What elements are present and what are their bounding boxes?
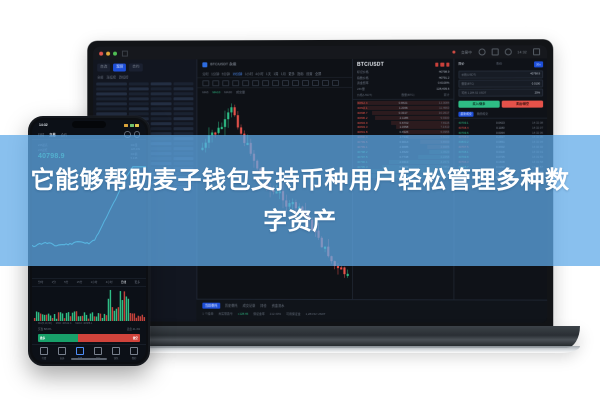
chart-tf-2[interactable]: 5分钟 <box>222 71 230 76</box>
orderbook-cell: 7.1413 <box>440 125 449 129</box>
exchange-logo-icon <box>202 62 207 67</box>
orderbook-columns: 价格(USDT) 数量(BTC) 累计 <box>353 90 453 99</box>
phone-volume-bar <box>54 314 55 321</box>
view-all-icon[interactable] <box>435 63 438 66</box>
trade-time: 14:32:06 <box>532 130 543 134</box>
trade-field-0[interactable]: 价格(USDT)40798.9 <box>458 71 543 79</box>
candle-body <box>347 274 349 276</box>
phone-volume-bar <box>76 311 77 321</box>
trade-field-value: 25% <box>535 91 540 94</box>
chart-tool-icon[interactable] <box>212 80 219 86</box>
orders-status-item-4: 212.40% <box>270 311 281 315</box>
orders-status-item-1: 未实现盈亏 <box>218 311 232 315</box>
phone-tf-4[interactable]: 1小时 <box>91 280 98 284</box>
watchlist-cell <box>129 97 149 101</box>
phone-volume-bar <box>126 296 127 321</box>
orderbook-cell: 0.8421 <box>399 101 408 105</box>
chart-tf-11[interactable]: 设置 <box>306 71 312 76</box>
phone-volume-bar <box>98 313 99 321</box>
watchlist-subtab-1[interactable]: 涨幅榜 <box>106 74 115 79</box>
orders-status-item-0: 1 个挂单 <box>202 311 213 315</box>
phone-volume-bar <box>42 314 43 321</box>
phone-volume-bar <box>136 317 137 320</box>
watchlist-row[interactable] <box>96 107 193 111</box>
orders-strip: 当前委托历史委托成交记录持仓资金流水 1 个挂单未实现盈亏+128.45保证金率… <box>196 299 547 323</box>
orderbook-cell: 6.0955 <box>440 130 449 134</box>
watchlist-cell <box>129 92 149 96</box>
chart-tf-1[interactable]: 1分钟 <box>211 71 219 76</box>
watchlist-cell <box>173 122 193 126</box>
chart-tf-12[interactable]: 全屏 <box>315 70 321 75</box>
orderbook-stat-key: 指数价格 <box>357 75 369 79</box>
trade-field-label: 可用 1,284.52 USDT <box>461 91 486 95</box>
orderbook-stat-key: 标记价格 <box>357 70 369 74</box>
phone-volume-bar <box>114 310 115 320</box>
signal-icon <box>124 124 128 127</box>
phone-volume-bar <box>138 315 139 320</box>
orderbook-cell: 7.8115 <box>441 120 450 124</box>
trade-tab-market[interactable]: 市价 <box>496 61 502 67</box>
candle-body <box>237 115 239 127</box>
overlay-banner: 它能够帮助麦子钱包支持币种用户轻松管理多种数字资产 <box>0 135 600 266</box>
watchlist-cell <box>129 107 149 111</box>
chart-tf-9[interactable]: 更多 <box>288 71 294 76</box>
trade-icon <box>76 347 84 355</box>
phone-volume-bar <box>86 314 87 320</box>
phone-volume-bar <box>80 316 81 321</box>
view-asks-icon[interactable] <box>446 63 449 66</box>
phone-tf-7[interactable]: 更多 <box>135 280 140 284</box>
watchlist-cell <box>96 107 126 111</box>
watchlist-tabs[interactable]: 自选 现货 合约 <box>93 59 196 73</box>
phone-buy-sell-ratio[interactable]: 做多 做空 <box>38 334 140 342</box>
orders-tab-0[interactable]: 当前委托 <box>202 302 220 309</box>
phone-volume-bar <box>64 318 65 321</box>
chart-legend-2: MA30 <box>224 90 232 94</box>
phone-tab-钱包[interactable]: 钱包 <box>112 347 120 360</box>
phone-volume-bar <box>68 312 69 321</box>
phone-timeframe-row[interactable]: 分时1分5分15分1小时4小时日线更多 <box>32 278 146 286</box>
trade-time: 14:32:07 <box>532 125 543 129</box>
phone-volume-bar <box>78 316 79 321</box>
orderbook-cell: 10.2617 <box>439 111 450 115</box>
orderbook-sell-row[interactable]: 40803.31.04587.1413 <box>357 125 449 129</box>
trade-order-type-tabs[interactable]: 限价 市价 20x <box>454 58 547 69</box>
phone-volume-bar <box>44 314 45 320</box>
sell-button[interactable]: 卖出/做空 <box>502 100 543 107</box>
phone-volume-bar <box>140 316 141 321</box>
chart-tool-icon[interactable] <box>262 80 269 86</box>
trade-history-row[interactable]: 40799.60.006414:32:06 <box>458 130 543 134</box>
trade-qty: 0.0064 <box>496 130 505 134</box>
orders-tab-4[interactable]: 资金流水 <box>272 303 285 308</box>
orderbook-stat-value: 40798.9 <box>439 70 450 74</box>
candle-body <box>343 267 345 274</box>
candle-body <box>340 267 342 269</box>
chart-tf-5[interactable]: 4小时 <box>255 71 263 76</box>
chart-tools-toolbar[interactable] <box>197 78 352 88</box>
grid-icon[interactable] <box>491 48 498 55</box>
minimize-icon[interactable] <box>106 51 110 55</box>
watchlist-cell <box>129 87 149 91</box>
chart-tf-4[interactable]: 1小时 <box>245 71 253 76</box>
orderbook-cell: 0.3317 <box>399 111 408 115</box>
chart-tool-icon[interactable] <box>282 80 289 86</box>
phone-buy-depth: 买盘 58.6% <box>38 327 51 331</box>
phone-volume-bar <box>144 317 145 321</box>
chart-tf-6[interactable]: 1天 <box>266 71 271 76</box>
orderbook-sell-row[interactable]: 40812.40.842112.3084 <box>357 101 449 105</box>
chart-timeframe-toolbar[interactable]: 分时1分钟5分钟15分钟1小时4小时1天1周1月更多指标设置全屏 <box>197 69 352 78</box>
candle-body <box>234 107 236 115</box>
phone-volume-bar <box>60 312 61 321</box>
watchlist-cell <box>173 117 193 121</box>
phone-ratio-buy[interactable]: 做多 <box>38 334 78 342</box>
chart-header: BTC/USDT 永续 <box>197 59 352 69</box>
phone-volume-bar <box>108 298 109 320</box>
chart-tool-icon[interactable] <box>332 79 339 85</box>
phone-volume-bar <box>130 313 131 321</box>
watchlist-cell <box>173 82 193 86</box>
watchlist-tab-1[interactable]: 现货 <box>113 64 126 72</box>
phone-notch <box>72 121 106 128</box>
chart-legend-3: 成交量 <box>236 90 245 94</box>
watchlist-row[interactable] <box>96 102 193 106</box>
chart-tool-icon[interactable] <box>322 79 329 85</box>
orderbook-cell: 1.0458 <box>400 125 409 129</box>
chart-tool-icon[interactable] <box>222 80 229 86</box>
phone-tf-5[interactable]: 4小时 <box>106 280 113 284</box>
watchlist-cell <box>173 97 193 101</box>
watchlist-tab-2[interactable]: 合约 <box>129 63 142 71</box>
orderbook-cell: 40808.7 <box>357 111 367 115</box>
chart-tool-icon[interactable] <box>202 80 209 86</box>
chart-icon <box>40 347 48 355</box>
phone-volume-bar <box>38 312 39 321</box>
phone-statusbar: 14:32 <box>32 120 146 130</box>
record-dot-icon <box>452 51 455 54</box>
battery-icon <box>135 124 139 127</box>
phone-time: 14:32 <box>39 123 48 127</box>
phone-volume-bar <box>46 314 47 320</box>
orderbook-cell: 2.1185 <box>400 116 409 120</box>
chart-tf-8[interactable]: 1月 <box>281 71 286 76</box>
watchlist-subtab-2[interactable]: 跌幅榜 <box>119 74 128 79</box>
orderbook-cell: 0.4926 <box>400 130 409 134</box>
phone-volume-bar <box>82 315 83 320</box>
phone-volume-bar <box>94 316 95 321</box>
orderbook-cell: 40812.4 <box>357 101 367 105</box>
watchlist-cell <box>96 97 126 101</box>
phone-tab-label: 自选 <box>60 356 65 360</box>
watchlist-row[interactable] <box>96 97 193 101</box>
phone-tab-我的[interactable]: 我的 <box>130 347 138 360</box>
close-icon[interactable] <box>99 51 103 55</box>
orderbook-cell: 1.2046 <box>399 106 408 110</box>
phone-volume-bar <box>112 307 113 321</box>
phone-ratio-sell-label: 做空 <box>133 336 138 340</box>
orderbook-col-qty: 数量(BTC) <box>401 93 414 97</box>
phone-volume-bar <box>132 313 133 321</box>
watchlist-cell <box>96 82 126 86</box>
person-icon <box>130 347 138 355</box>
watchlist-cell <box>151 102 171 106</box>
orderbook-sell-row[interactable]: 40804.90.67027.8115 <box>357 120 449 124</box>
wallet-icon <box>112 347 120 355</box>
orders-status-line: 1 个挂单未实现盈亏+128.45保证金率212.40%可用保证金1,284.5… <box>196 310 547 317</box>
orderbook-cell: 11.4663 <box>439 106 449 110</box>
wifi-icon <box>130 124 134 127</box>
trade-qty: 0.0423 <box>496 120 505 124</box>
orderbook-cell: 40810.1 <box>357 106 367 110</box>
trade-field-1[interactable]: 数量(BTC)0.0100 <box>458 80 543 88</box>
bell-icon[interactable] <box>504 48 511 55</box>
candle-body <box>221 127 223 129</box>
trade-input-fields[interactable]: 价格(USDT)40798.9数量(BTC)0.0100可用 1,284.52 … <box>454 69 547 98</box>
phone-volume-bar <box>118 307 119 321</box>
watchlist-subtab-0[interactable]: 全部 <box>97 74 103 79</box>
orderbook-col-total: 累计 <box>444 93 450 97</box>
watchlist-row[interactable] <box>96 82 193 86</box>
phone-volume-bar <box>40 313 41 320</box>
chart-tool-icon[interactable] <box>232 80 239 86</box>
watchlist-cell <box>151 122 171 126</box>
orderbook-cell: 9.9300 <box>440 115 449 119</box>
phone-volume-bar <box>102 317 103 320</box>
phone-volume-bar <box>96 316 97 320</box>
orderbook-stat: 资金费率0.0100% <box>357 81 449 85</box>
watchlist-cell <box>151 92 171 96</box>
trade-field-value: 0.0100 <box>532 82 540 85</box>
watchlist-cell <box>151 87 171 91</box>
phone-volume-bar <box>104 313 105 320</box>
orderbook-sell-row[interactable]: 40801.80.49266.0955 <box>357 130 449 134</box>
orderbook-sell-row[interactable]: 40806.22.11859.9300 <box>357 115 449 119</box>
trade-price: 40798.4 <box>458 125 468 129</box>
orderbook-col-price: 价格(USDT) <box>357 93 372 97</box>
orderbook-cell: 12.3084 <box>439 101 450 105</box>
watchlist-cell <box>173 87 193 91</box>
phone-volume-bar <box>34 317 35 320</box>
orderbook-header: BTC/USDT <box>353 59 453 70</box>
orderbook-stat-key: 资金费率 <box>357 81 369 85</box>
phone-volume-bar <box>124 291 125 321</box>
menubar-time: 14:32 <box>517 50 527 54</box>
window-controls[interactable] <box>99 51 117 55</box>
orderbook-cell: 40806.2 <box>357 116 367 120</box>
orders-tab-1[interactable]: 历史委托 <box>225 303 238 308</box>
search-icon[interactable] <box>478 48 485 55</box>
orderbook-stat: 标记价格40798.9 <box>357 70 449 74</box>
phone-tf-2[interactable]: 5分 <box>64 280 68 284</box>
phone-volume-chart <box>32 286 146 321</box>
phone-tf-3[interactable]: 15分 <box>77 280 83 284</box>
phone-volume-bar <box>72 312 73 320</box>
phone-volume-bar <box>100 313 101 320</box>
trade-field-value: 40798.9 <box>530 73 540 76</box>
phone-volume-bar <box>120 291 121 321</box>
phone-volume-bar <box>58 312 59 321</box>
chart-tool-icon[interactable] <box>302 80 309 86</box>
phone-tab-label: 我的 <box>132 356 137 360</box>
phone-volume-bar <box>56 318 57 320</box>
trade-field-label: 数量(BTC) <box>461 82 474 86</box>
chart-tool-icon[interactable] <box>312 80 319 86</box>
watchlist-cell <box>151 117 171 121</box>
orderbook-stat: 指数价格40791.2 <box>357 75 449 79</box>
watchlist-cell <box>151 112 171 116</box>
banner-text: 它能够帮助麦子钱包支持币种用户轻松管理多种数字资产 <box>22 160 578 242</box>
app-titlebar: 交易中 14:32 <box>93 45 547 59</box>
watchlist-cell <box>173 112 193 116</box>
watchlist-row[interactable] <box>96 92 193 96</box>
chart-legend-1: MA10 <box>212 90 220 94</box>
watchlist-tab-0[interactable]: 自选 <box>97 64 110 72</box>
orderbook-sell-row[interactable]: 40808.70.331710.2617 <box>357 111 449 115</box>
orders-status-item-5: 可用保证金 <box>286 311 300 315</box>
watchlist-cell <box>151 97 171 101</box>
phone-ratio-buy-label: 做多 <box>40 336 45 340</box>
orderbook-stat-value: 40791.2 <box>439 75 450 79</box>
phone-status-icons <box>124 124 139 127</box>
phone-volume-bar <box>142 314 143 320</box>
menubar-status: 交易中 <box>461 50 472 55</box>
orderbook-sell-row[interactable]: 40810.11.204611.4663 <box>357 106 449 110</box>
phone-tab-label: 钱包 <box>114 356 119 360</box>
leverage-selector[interactable]: 20x <box>534 61 543 67</box>
orderbook-cell: 0.6702 <box>400 120 409 124</box>
orderbook-stat-value: 0.0100% <box>438 81 449 85</box>
orders-tab-3[interactable]: 持仓 <box>260 303 266 308</box>
phone-tf-1[interactable]: 1分 <box>52 280 56 284</box>
watchlist-cell <box>96 102 126 106</box>
orderbook-stats: 标记价格40798.9指数价格40791.2资金费率0.0100%24h量128… <box>353 70 453 91</box>
candle-body <box>224 119 226 127</box>
watchlist-cell <box>151 82 171 86</box>
phone-volume-svg <box>32 287 146 321</box>
candle-body <box>240 127 242 133</box>
trade-price: 40799.6 <box>458 130 468 134</box>
phone-volume-bar <box>106 315 107 321</box>
orderbook-cell: 40804.9 <box>357 120 367 124</box>
phone-volume-bar <box>90 313 91 320</box>
phone-tf-0[interactable]: 分时 <box>38 280 43 284</box>
phone-volume-bar <box>50 315 51 321</box>
phone-tf-6[interactable]: 日线 <box>121 280 126 284</box>
trade-tab-limit[interactable]: 限价 <box>458 62 464 68</box>
phone-volume-bar <box>110 289 111 320</box>
watchlist-cell <box>129 82 149 86</box>
battery-icon <box>533 48 540 55</box>
screenshot-stage: 交易中 14:32 自选 现货 合约 <box>0 0 600 400</box>
orderbook-view-toggle[interactable] <box>435 63 449 66</box>
chart-tf-10[interactable]: 指标 <box>297 71 303 76</box>
watchlist-row[interactable] <box>96 87 193 91</box>
history-tab-latest[interactable]: 最新成交 <box>458 111 473 116</box>
trade-field-2[interactable]: 可用 1,284.52 USDT25% <box>458 89 543 97</box>
trade-qty: 0.1180 <box>496 125 504 129</box>
candle-body <box>217 128 219 133</box>
orderbook-depth-bar <box>375 115 450 119</box>
orders-status-item-6: 1,284.52 USDT <box>306 312 326 316</box>
phone-volume-bar <box>128 298 129 320</box>
candle-body <box>230 107 232 112</box>
phone-volume-bar <box>134 313 135 321</box>
phone-volume-bar <box>84 312 85 321</box>
trade-action-buttons[interactable]: 买入/做多 卖出/做空 <box>454 98 547 110</box>
phone-volume-bar <box>74 311 75 321</box>
contract-icon <box>94 347 102 355</box>
chart-tf-0[interactable]: 分时 <box>202 71 208 76</box>
watchlist-cell <box>129 102 149 106</box>
orders-tab-2[interactable]: 成交记录 <box>243 303 256 308</box>
orderbook-symbol: BTC/USDT <box>357 62 384 68</box>
chart-tool-icon[interactable] <box>292 80 299 86</box>
trade-time: 14:32:08 <box>532 120 543 124</box>
history-tab-mine[interactable]: 我的成交 <box>477 111 488 116</box>
phone-volume-bar <box>122 300 123 321</box>
trade-history-row[interactable]: 40799.10.042314:32:08 <box>458 120 543 124</box>
phone-tab-行情[interactable]: 行情 <box>40 347 48 360</box>
trade-history-row[interactable]: 40798.40.118014:32:07 <box>458 125 543 129</box>
phone-tab-自选[interactable]: 自选 <box>58 347 66 360</box>
phone-volume-bar <box>36 311 37 320</box>
chart-tool-icon[interactable] <box>242 80 249 86</box>
buy-button[interactable]: 买入/做多 <box>458 100 499 107</box>
chart-tf-7[interactable]: 1周 <box>273 71 278 76</box>
phone-volume-bar <box>88 318 89 320</box>
chart-legend-0: MA5 <box>202 90 208 94</box>
phone-ratio-sell[interactable]: 做空 <box>78 334 140 342</box>
orderbook-depth-bar <box>372 111 449 115</box>
candle-body <box>227 112 229 119</box>
watchlist-cell <box>151 107 171 111</box>
zoom-icon[interactable] <box>113 51 117 55</box>
star-icon <box>58 347 66 355</box>
chart-title: BTC/USDT 永续 <box>210 62 236 67</box>
orders-status-item-3: 保证金率 <box>253 311 265 315</box>
watchlist-cell <box>173 102 193 106</box>
menubar-right: 交易中 14:32 <box>452 48 540 55</box>
phone-volume-bar <box>48 313 49 320</box>
orders-status-item-2: +128.45 <box>238 311 248 315</box>
orderbook-cell: 40801.8 <box>357 130 367 134</box>
candle-body <box>337 266 339 268</box>
trade-field-label: 价格(USDT) <box>461 72 476 76</box>
view-bids-icon[interactable] <box>441 63 444 66</box>
orderbook-cell: 40803.3 <box>357 125 367 129</box>
watchlist-cell <box>173 92 193 96</box>
phone-volume-bar <box>116 308 117 320</box>
phone-volume-bar <box>52 318 53 321</box>
phone-tab-label: 行情 <box>42 356 47 360</box>
phone-home-indicator <box>71 358 107 360</box>
phone-volume-bar <box>92 312 93 321</box>
trade-price: 40799.1 <box>458 121 468 125</box>
phone-volume-bar <box>70 316 71 321</box>
watchlist-cell <box>96 87 126 91</box>
chart-tool-icon[interactable] <box>272 80 279 86</box>
phone-depth-row: 买盘 58.6% 卖盘 41.4% <box>32 326 146 333</box>
chart-tf-3[interactable]: 15分钟 <box>232 71 242 76</box>
chart-tool-icon[interactable] <box>252 80 259 86</box>
watchlist-cell <box>173 107 193 111</box>
sidebar-toggle-icon[interactable] <box>122 50 128 56</box>
watchlist-cell <box>151 127 171 131</box>
phone-sell-depth: 卖盘 41.4% <box>127 327 140 331</box>
watchlist-cell <box>173 127 193 131</box>
trade-history-tabs[interactable]: 最新成交 我的成交 <box>454 110 547 119</box>
